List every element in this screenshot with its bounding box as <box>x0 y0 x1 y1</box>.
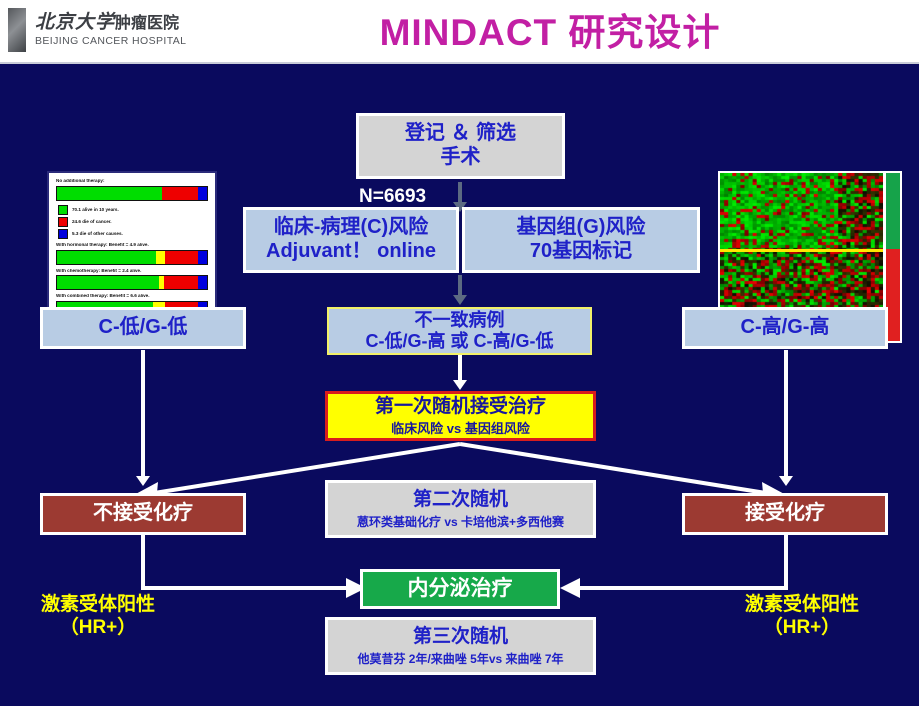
heatmap-sidebar-good-prognosis <box>886 173 900 249</box>
hr-right-line1: 激素受体阳性 <box>712 594 892 617</box>
randomization2-line1: 第二次随机 <box>413 489 508 511</box>
arrowhead-endocrine-right <box>560 578 580 598</box>
chemo-label: 接受化疗 <box>745 502 825 526</box>
box-second-randomization[interactable]: 第二次随机 蒽环类基础化疗 vs 卡培他滨+多西他赛 <box>325 480 596 538</box>
legend-label: 5.3 die of other causes. <box>72 231 123 236</box>
randomization1-line2: 临床风险 vs 基因组风险 <box>391 421 530 436</box>
bar-seg-red <box>165 251 198 264</box>
heatmap-sidebar-poor-prognosis <box>886 249 900 341</box>
randomization2-line2: 蒽环类基础化疗 vs 卡培他滨+多西他赛 <box>357 515 564 529</box>
no-chemo-label: 不接受化疗 <box>93 502 193 526</box>
bar-seg-red <box>164 276 199 289</box>
slide-header: 北京大学肿瘤医院 BEIJING CANCER HOSPITAL MINDACT… <box>0 0 919 64</box>
randomization3-line1: 第三次随机 <box>413 626 508 648</box>
adjuvant-caption-hormonal: With hormonal therapy: Benefit = 4.9 ali… <box>56 243 208 248</box>
legend-item: 24.6 die of cancer. <box>58 217 208 227</box>
connector-lowlow-to-nochemo-line <box>141 350 145 478</box>
logo-english-name: BEIJING CANCER HOSPITAL <box>35 36 186 47</box>
page-title: MINDACT 研究设计 <box>230 4 870 54</box>
adjuvant-bar-no-therapy <box>56 186 208 201</box>
box-chemotherapy[interactable]: 接受化疗 <box>682 493 888 535</box>
box-first-randomization[interactable]: 第一次随机接受治疗 临床风险 vs 基因组风险 <box>325 391 596 441</box>
bar-seg-green <box>57 276 159 289</box>
legend-label: 24.6 die of cancer. <box>72 219 112 224</box>
box-discordant-cases[interactable]: 不一致病例 C-低/G-高 或 C-高/G-低 <box>327 307 592 355</box>
hospital-logo: 北京大学肿瘤医院 BEIJING CANCER HOSPITAL <box>8 2 208 58</box>
box-no-chemotherapy[interactable]: 不接受化疗 <box>40 493 246 535</box>
connector-lowlow-to-nochemo-arrow <box>136 476 150 486</box>
legend-item: 5.3 die of other causes. <box>58 229 208 239</box>
box-clinical-pathological-risk[interactable]: 临床-病理(C)风险 Adjuvant！ online <box>243 207 459 273</box>
randomization1-line1: 第一次随机接受治疗 <box>375 396 546 418</box>
genomic-risk-line1: 基因组(G)风险 <box>517 216 646 240</box>
box-c-high-g-high[interactable]: C-高/G-高 <box>682 307 888 349</box>
connector-middle-down-arrow <box>453 295 467 305</box>
legend-label: 70.1 alive in 10 years. <box>72 207 119 212</box>
bar-seg-blue <box>198 187 207 200</box>
heatmap-divider-line <box>720 249 883 252</box>
bar-seg-green <box>57 187 162 200</box>
box-endocrine-therapy[interactable]: 内分泌治疗 <box>360 569 560 609</box>
connector-middle-down-line <box>458 275 462 297</box>
enrollment-line2: 手术 <box>441 146 481 170</box>
randomization3-line2: 他莫昔芬 2年/来曲唑 5年vs 来曲唑 7年 <box>357 652 563 666</box>
hr-positive-label-left: 激素受体阳性 （HR+） <box>8 594 188 640</box>
logo-mark-icon <box>8 8 26 52</box>
diagram-canvas: No additional therapy: 70.1 alive in 10 … <box>0 64 919 706</box>
adjuvant-bar-hormonal <box>56 250 208 265</box>
connector-chemo-to-endocrine <box>578 534 786 588</box>
hr-left-line2: （HR+） <box>8 617 188 640</box>
adjuvant-caption-no-therapy: No additional therapy: <box>56 179 208 184</box>
legend-item: 70.1 alive in 10 years. <box>58 205 208 215</box>
box-c-low-g-low[interactable]: C-低/G-低 <box>40 307 246 349</box>
adjuvant-legend: 70.1 alive in 10 years. 24.6 die of canc… <box>58 205 208 239</box>
connector-discordant-down-arrow <box>453 380 467 390</box>
logo-text: 北京大学肿瘤医院 BEIJING CANCER HOSPITAL <box>35 13 186 47</box>
bar-seg-blue <box>198 276 207 289</box>
slide-root: 北京大学肿瘤医院 BEIJING CANCER HOSPITAL MINDACT… <box>0 0 919 706</box>
bar-seg-green <box>57 251 156 264</box>
box-third-randomization[interactable]: 第三次随机 他莫昔芬 2年/来曲唑 5年vs 来曲唑 7年 <box>325 617 596 675</box>
logo-cn-sub: 肿瘤医院 <box>115 15 179 32</box>
connector-discordant-down-line <box>458 354 462 382</box>
bar-seg-red <box>162 187 198 200</box>
logo-chinese-name: 北京大学肿瘤医院 <box>35 13 186 32</box>
legend-swatch-cancer-death-icon <box>58 217 68 227</box>
adjuvant-caption-chemo: With chemotherapy: Benefit = 2.4 alive. <box>56 269 208 274</box>
connector-enroll-down-line <box>458 182 462 204</box>
discordant-line2: C-低/G-高 或 C-高/G-低 <box>366 331 554 352</box>
c-low-g-low-label: C-低/G-低 <box>99 316 188 340</box>
legend-swatch-alive-icon <box>58 205 68 215</box>
c-high-g-high-label: C-高/G-高 <box>741 316 830 340</box>
bar-seg-blue <box>198 251 207 264</box>
hr-positive-label-right: 激素受体阳性 （HR+） <box>712 594 892 640</box>
adjuvant-caption-combined: With combined therapy: Benefit = 6.6 ali… <box>56 294 208 299</box>
connector-no-chemo-to-endocrine <box>143 534 348 588</box>
legend-swatch-other-death-icon <box>58 229 68 239</box>
enrollment-line1: 登记 ＆ 筛选 <box>405 122 516 146</box>
logo-cn-main: 北京大学 <box>35 12 115 33</box>
clinical-risk-line1: 临床-病理(C)风险 <box>274 216 428 240</box>
connector-highhigh-to-chemo-arrow <box>779 476 793 486</box>
connector-highhigh-to-chemo-line <box>784 350 788 478</box>
discordant-line1: 不一致病例 <box>415 310 505 331</box>
box-enrollment-screening[interactable]: 登记 ＆ 筛选 手术 <box>356 113 565 179</box>
hr-left-line1: 激素受体阳性 <box>8 594 188 617</box>
endocrine-label: 内分泌治疗 <box>408 577 513 602</box>
clinical-risk-line2: Adjuvant！ online <box>266 240 436 264</box>
adjuvant-bar-chemo <box>56 275 208 290</box>
genomic-risk-line2: 70基因标记 <box>530 240 632 264</box>
sample-size-label: N=6693 <box>359 186 426 208</box>
hr-right-line2: （HR+） <box>712 617 892 640</box>
heatmap-class-sidebar <box>886 173 900 341</box>
bar-seg-yellow <box>156 251 165 264</box>
box-genomic-risk[interactable]: 基因组(G)风险 70基因标记 <box>462 207 700 273</box>
